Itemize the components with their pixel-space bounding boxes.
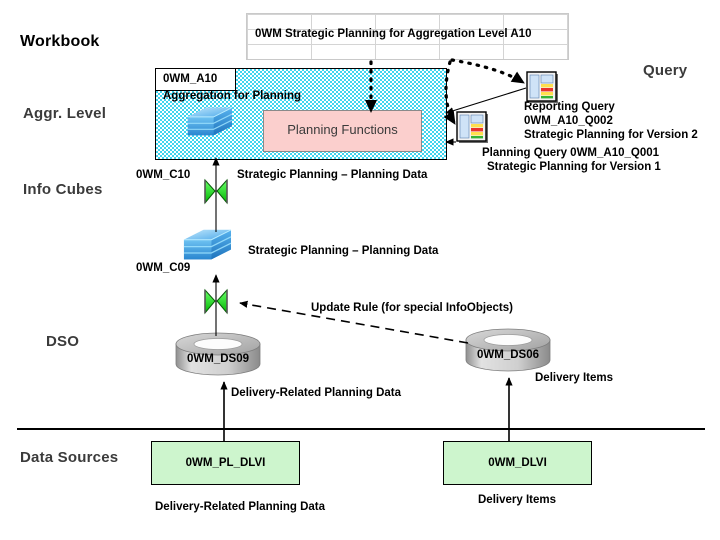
blue-cube-icon-0wm-c09[interactable]	[184, 230, 231, 259]
dso-id-0wm-ds09: 0WM_DS09	[187, 353, 249, 365]
dso-cylinder-0wm-ds06[interactable]: 0WM_DS06	[466, 329, 550, 371]
arrow-workbook-to-planning-query	[446, 62, 455, 124]
blue-cube-icon-0wm-c10[interactable]	[188, 108, 232, 136]
diagram-overlay: 0WM_DS09 0WM_DS06	[0, 0, 720, 540]
dso-id-0wm-ds06: 0WM_DS06	[477, 349, 539, 361]
arrow-reporting-query-to-aggregation	[446, 88, 526, 113]
query-grid-icon-reporting[interactable]	[527, 72, 558, 103]
arrow-workbook-to-reporting-query	[452, 60, 524, 83]
arrow-update-rule-ds06-to-c09	[240, 303, 468, 343]
diagram-canvas: Workbook Aggr. Level Info Cubes DSO Data…	[0, 0, 720, 540]
dso-cylinder-0wm-ds09[interactable]: 0WM_DS09	[176, 333, 260, 375]
query-grid-icon-planning[interactable]	[457, 112, 488, 143]
